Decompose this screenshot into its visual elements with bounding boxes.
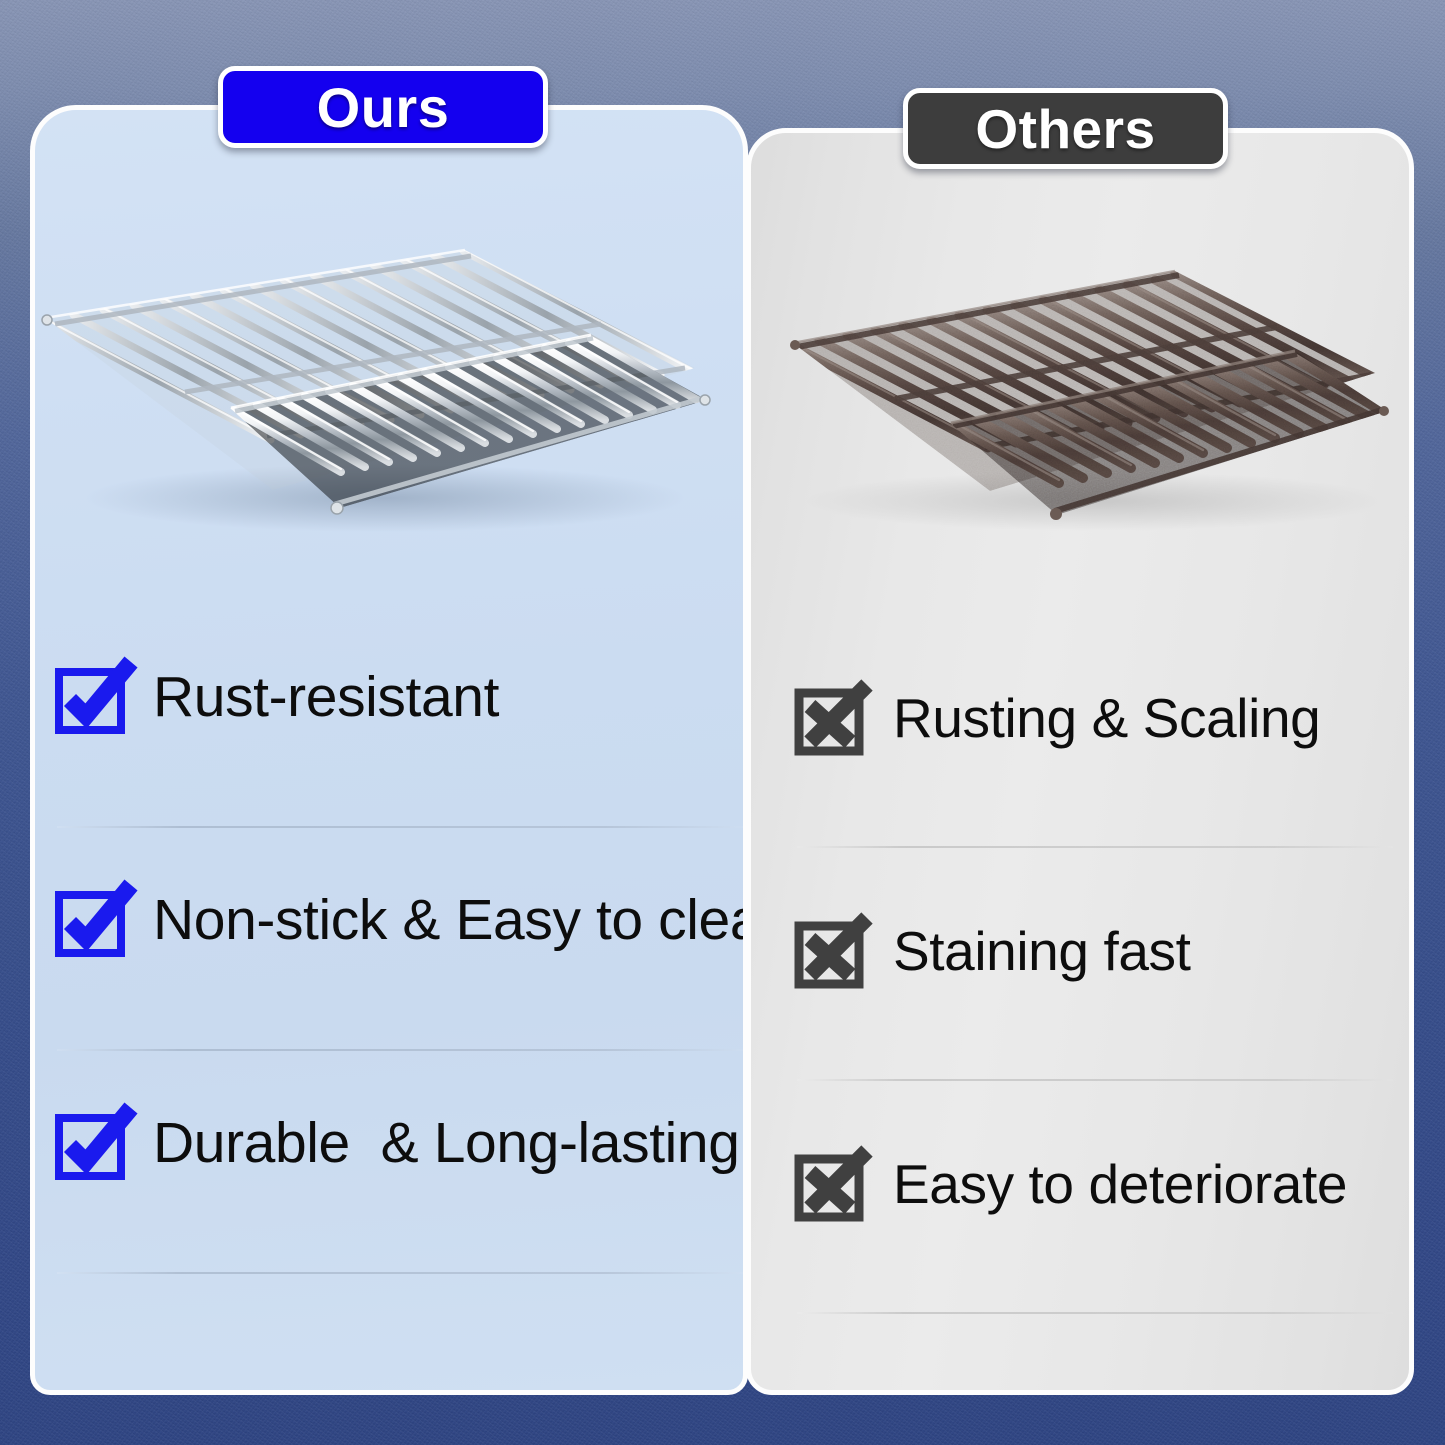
checkbox-crossed-icon <box>793 912 873 992</box>
list-item-label: Easy to deteriorate <box>893 1157 1347 1212</box>
checkbox-checked-icon <box>53 658 133 738</box>
others-feature-list: Rusting & Scaling Staining fast <box>793 615 1393 1314</box>
checkbox-crossed-icon <box>793 679 873 759</box>
ours-badge: Ours <box>218 66 548 148</box>
list-item[interactable]: Rust-resistant <box>53 605 743 828</box>
divider <box>57 1272 743 1274</box>
list-item[interactable]: Rusting & Scaling <box>793 615 1393 848</box>
stainless-steel-grill-grates-image <box>35 240 715 545</box>
list-item-label: Durable & Long-lasting <box>153 1115 740 1172</box>
divider <box>797 1312 1393 1314</box>
list-item-label: Rust-resistant <box>153 669 499 726</box>
checkbox-crossed-icon <box>793 1145 873 1225</box>
ours-panel: Rust-resistant Non-stick & Easy to clean <box>30 105 748 1395</box>
rusted-grill-grates-image <box>775 243 1395 543</box>
list-item[interactable]: Easy to deteriorate <box>793 1081 1393 1314</box>
ours-feature-list: Rust-resistant Non-stick & Easy to clean <box>53 605 743 1274</box>
others-badge: Others <box>903 88 1228 169</box>
comparison-infographic: Rust-resistant Non-stick & Easy to clean <box>0 0 1445 1445</box>
list-item[interactable]: Durable & Long-lasting <box>53 1051 743 1274</box>
list-item-label: Staining fast <box>893 924 1191 979</box>
others-panel: Rusting & Scaling Staining fast <box>746 128 1414 1395</box>
list-item[interactable]: Staining fast <box>793 848 1393 1081</box>
list-item[interactable]: Non-stick & Easy to clean <box>53 828 743 1051</box>
checkbox-checked-icon <box>53 1104 133 1184</box>
list-item-label: Rusting & Scaling <box>893 691 1320 746</box>
list-item-label: Non-stick & Easy to clean <box>153 892 748 949</box>
ours-badge-label: Ours <box>317 75 450 140</box>
others-badge-label: Others <box>975 97 1155 161</box>
checkbox-checked-icon <box>53 881 133 961</box>
